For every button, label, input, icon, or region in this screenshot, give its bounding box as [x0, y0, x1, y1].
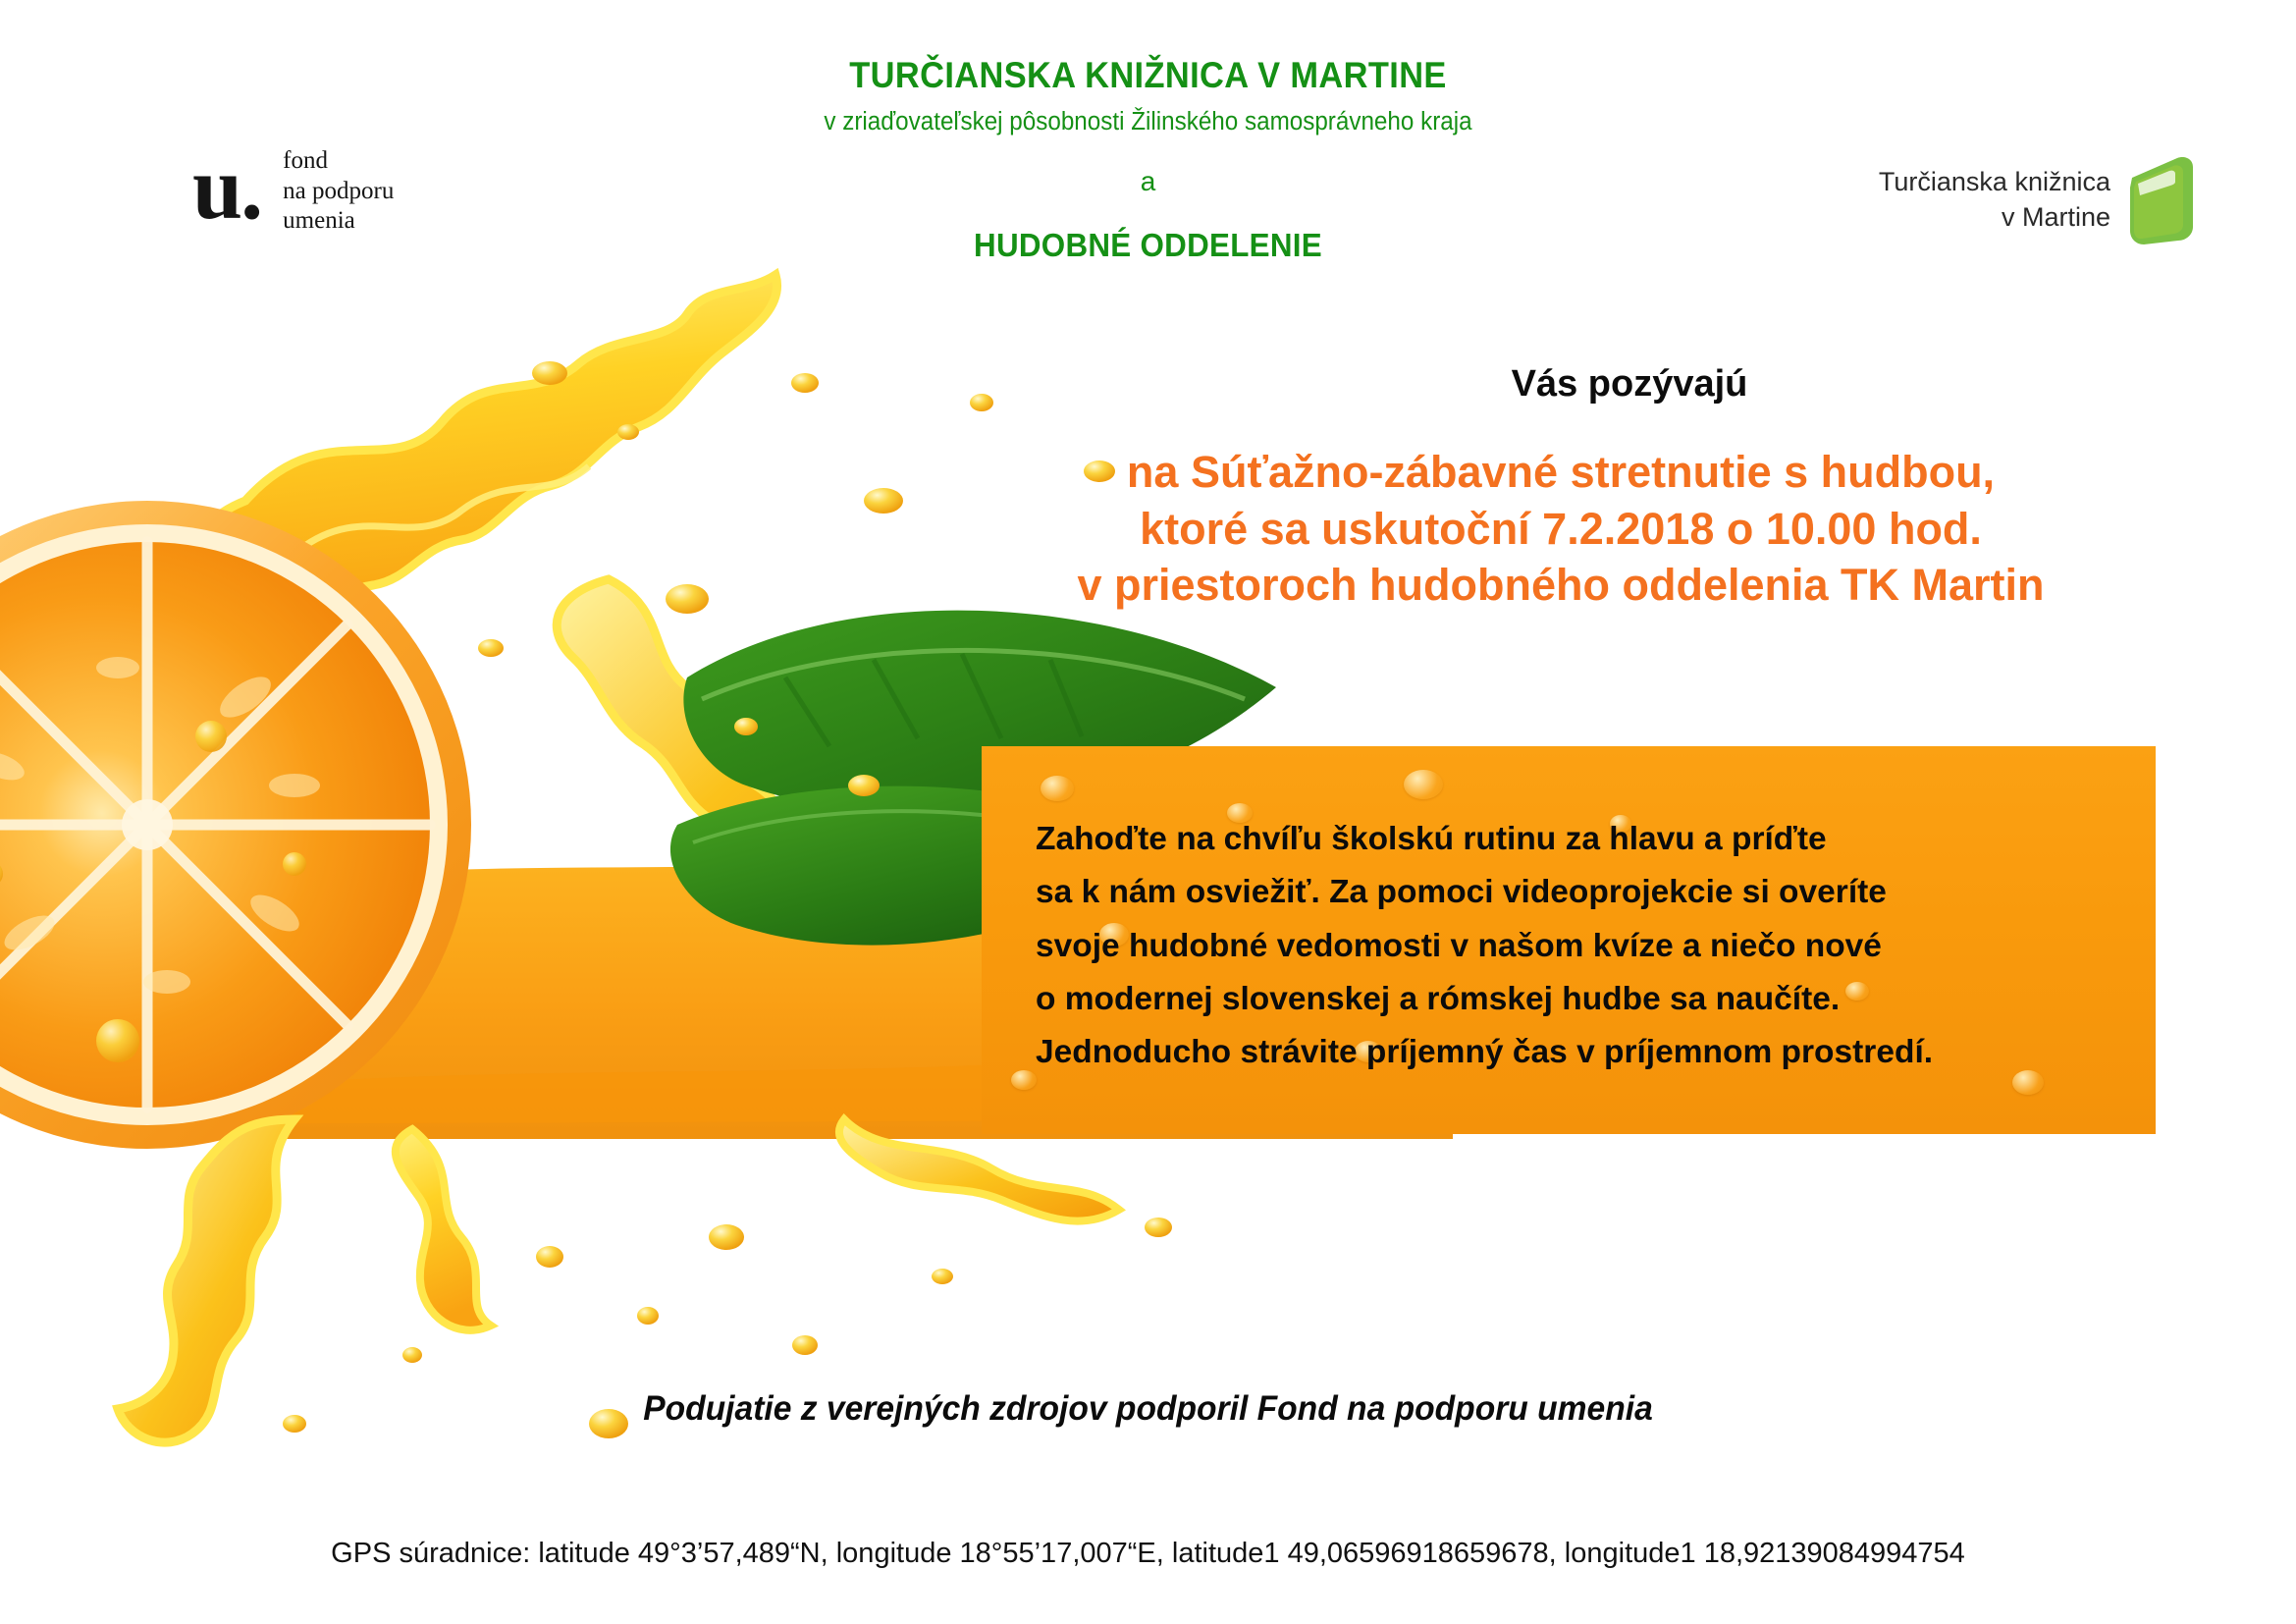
invitation-intro: Vás pozývajú: [1109, 363, 2150, 406]
juice-droplet: [1404, 770, 1443, 799]
invitation-headline: na Súťažno-zábavné stretnutie s hudbou, …: [923, 444, 2199, 614]
poster-canvas: u. fond na podporu umenia TURČIANSKA KNI…: [0, 0, 2296, 1624]
support-statement: Podujatie z verejných zdrojov podporil F…: [46, 1389, 2250, 1429]
band-line-2: sa k nám osviežiť. Za pomoci videoprojek…: [1036, 866, 2214, 919]
organization-subtitle: v zriaďovateľskej pôsobnosti Žilinského …: [57, 108, 2238, 136]
tk-logo-words: Turčianska knižnica v Martine: [1879, 164, 2110, 236]
invitation-line-2: ktoré sa uskutoční 7.2.2018 o 10.00 hod.: [923, 501, 2199, 558]
band-line-5: Jednoducho strávite príjemný čas v príje…: [1036, 1026, 2214, 1079]
band-line-3: svoje hudobné vedomosti v našom kvíze a …: [1036, 920, 2214, 973]
gps-coordinates: GPS súradnice: latitude 49°3’57,489“N, l…: [0, 1538, 2296, 1570]
invitation-line-1: na Súťažno-zábavné stretnutie s hudbou,: [923, 444, 2199, 501]
juice-droplet: [1011, 1070, 1037, 1090]
band-line-4: o modernej slovenskej a rómskej hudbe sa…: [1036, 973, 2214, 1026]
invitation-line-3: v priestoroch hudobného oddelenia TK Mar…: [923, 557, 2199, 614]
book-icon: [2124, 154, 2199, 244]
tk-logo-line-2: v Martine: [1879, 199, 2110, 235]
turcianska-kniznica-logo: Turčianska knižnica v Martine: [1787, 145, 2199, 253]
organization-title: TURČIANSKA KNIŽNICA V MARTINE: [80, 55, 2216, 96]
tk-logo-line-1: Turčianska knižnica: [1879, 164, 2110, 199]
juice-droplet: [1041, 776, 1074, 801]
band-line-1: Zahoďte na chvíľu školskú rutinu za hlav…: [1036, 813, 2214, 866]
band-description-text: Zahoďte na chvíľu školskú rutinu za hlav…: [1036, 813, 2214, 1079]
